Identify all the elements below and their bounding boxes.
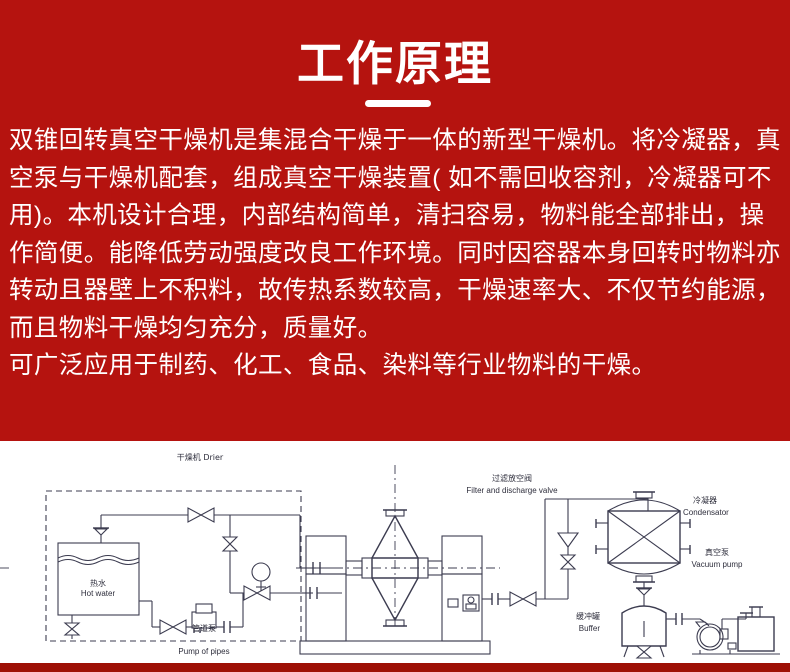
label-condensator-en: Condensator: [683, 508, 729, 517]
label-filter-valve-en: Filter and discharge valve: [466, 486, 558, 495]
label-vacuum-pump-en: Vacuum pump: [692, 560, 744, 569]
description-paragraph-2: 可广泛应用于制药、化工、食品、染料等行业物料的干燥。: [9, 347, 781, 385]
description-text-block: 双锥回转真空干燥机是集混合干燥于一体的新型干燥机。将冷凝器，真空泵与干燥机配套，…: [9, 122, 781, 385]
label-pump-of-pipes-en: Pump of pipes: [178, 647, 229, 656]
title-underline: [365, 100, 431, 107]
label-condensator-cn: 冷凝器: [693, 495, 717, 505]
label-filter-valve-cn: 过滤放空阀: [492, 473, 532, 483]
label-buffer-en: Buffer: [579, 624, 601, 633]
label-pump-of-pipes-cn-visible: 管道泵: [192, 623, 216, 633]
red-header-panel: 工作原理 双锥回转真空干燥机是集混合干燥于一体的新型干燥机。将冷凝器，真空泵与干…: [0, 0, 790, 441]
product-description-page: 工作原理 双锥回转真空干燥机是集混合干燥于一体的新型干燥机。将冷凝器，真空泵与干…: [0, 0, 790, 672]
label-hot-water-en: Hot water: [81, 589, 116, 598]
label-buffer-cn: 缓冲罐: [576, 611, 600, 621]
page-title: 工作原理: [0, 36, 790, 92]
bottom-accent-bar: [0, 663, 790, 672]
label-hot-water-cn: 热水: [90, 578, 106, 588]
flow-diagram-svg: .ln{fill:none;stroke:#3c3c50;stroke-widt…: [0, 441, 790, 663]
description-paragraph-1: 双锥回转真空干燥机是集混合干燥于一体的新型干燥机。将冷凝器，真空泵与干燥机配套，…: [9, 122, 781, 347]
process-flow-diagram: .ln{fill:none;stroke:#3c3c50;stroke-widt…: [0, 441, 790, 663]
label-drier: 干燥机 Drier: [177, 452, 224, 462]
label-vacuum-pump-cn: 真空泵: [705, 547, 729, 557]
